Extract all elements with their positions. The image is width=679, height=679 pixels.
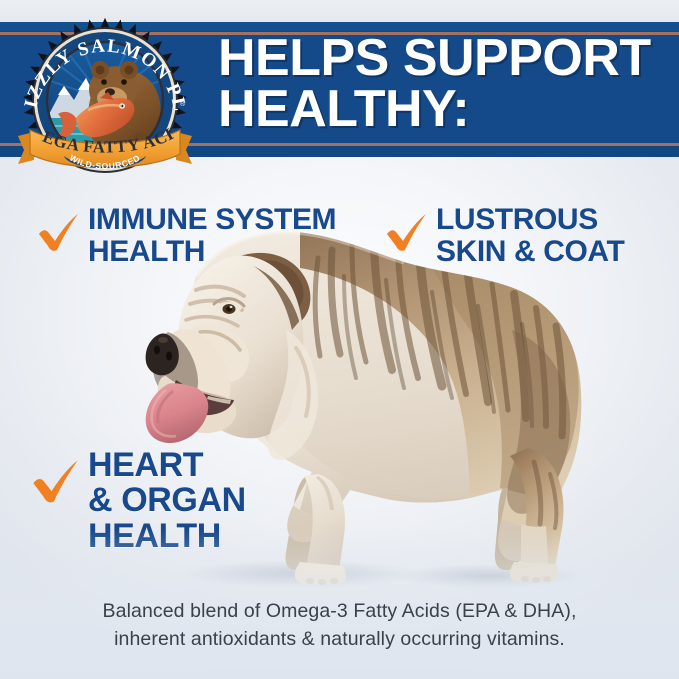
benefit-label-immune: IMMUNE SYSTEM HEALTH <box>88 204 336 268</box>
benefit-item-skin-coat: LUSTROUS SKIN & COAT <box>384 204 624 268</box>
orange-checkmark-icon <box>30 456 80 506</box>
benefit-item-immune: IMMUNE SYSTEM HEALTH <box>36 204 336 268</box>
page-title: HELPS SUPPORT HEALTHY: <box>218 33 668 135</box>
orange-checkmark-icon <box>384 210 428 254</box>
benefit-label-skin-coat: LUSTROUS SKIN & COAT <box>436 204 624 268</box>
brand-logo[interactable]: GRIZZLY SALMON PLUS ® OMEGA FATTY ACIDS … <box>12 14 198 182</box>
logo-trademark: ® <box>180 100 186 108</box>
product-benefits-infographic: HELPS SUPPORT HEALTHY: <box>0 0 679 679</box>
orange-checkmark-icon <box>36 210 80 254</box>
footer-description: Balanced blend of Omega-3 Fatty Acids (E… <box>0 598 679 653</box>
